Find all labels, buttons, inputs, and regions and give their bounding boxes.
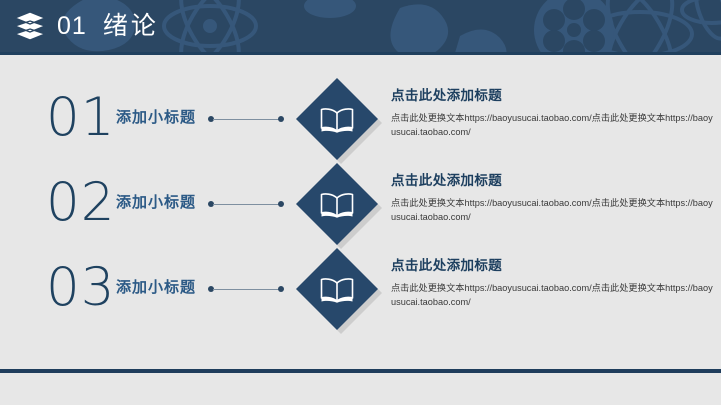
- row-title: 点击此处添加标题: [391, 258, 713, 274]
- row-title: 点击此处添加标题: [391, 173, 713, 189]
- row-subtitle: 添加小标题: [116, 195, 196, 210]
- connector-dot-right: [278, 286, 284, 292]
- open-book-icon: [319, 107, 355, 133]
- row-number: 01: [46, 91, 115, 144]
- row-body: 点击此处更换文本https://baoyusucai.taobao.com/点击…: [391, 196, 713, 225]
- row-text-block: 点击此处添加标题 点击此处更换文本https://baoyusucai.taob…: [391, 173, 713, 225]
- atom-nucleus-icon: [203, 19, 217, 33]
- row-subtitle: 添加小标题: [116, 110, 196, 125]
- header-content: 01 绪论: [0, 0, 159, 52]
- row-body: 点击此处更换文本https://baoyusucai.taobao.com/点击…: [391, 281, 713, 310]
- connector-line: [208, 285, 284, 293]
- connector-line: [208, 115, 284, 123]
- diamond-badge[interactable]: [295, 168, 387, 254]
- row-number: 02: [46, 176, 115, 229]
- connector-line: [208, 200, 284, 208]
- connector-bar: [213, 204, 279, 206]
- connector-bar: [213, 289, 279, 291]
- row-text-block: 点击此处添加标题 点击此处更换文本https://baoyusucai.taob…: [391, 88, 713, 140]
- blob-shape: [304, 0, 356, 18]
- slide-header: 01 绪论: [0, 0, 721, 52]
- row-title: 点击此处添加标题: [391, 88, 713, 104]
- open-book-icon: [319, 277, 355, 303]
- header-underline: [0, 52, 721, 55]
- header-section-number: 01: [57, 14, 87, 39]
- content-row: 03 添加小标题 点击此处添加标题 点击此处更换文本https://baoyus…: [0, 253, 721, 339]
- content-row: 01 添加小标题 点击此处添加标题 点击此处更换文本https://baoyus…: [0, 83, 721, 169]
- flask-icon: [390, 4, 448, 52]
- diamond-badge[interactable]: [295, 83, 387, 169]
- diamond-badge[interactable]: [295, 253, 387, 339]
- bottom-rule: [0, 369, 721, 373]
- header-section-title: 绪论: [103, 14, 159, 39]
- connector-dot-right: [278, 116, 284, 122]
- content-row: 02 添加小标题 点击此处添加标题 点击此处更换文本https://baoyus…: [0, 168, 721, 254]
- row-body: 点击此处更换文本https://baoyusucai.taobao.com/点击…: [391, 111, 713, 140]
- connector-dot-right: [278, 201, 284, 207]
- open-book-icon: [319, 192, 355, 218]
- atom-icon: [682, 0, 721, 43]
- blob-shape: [450, 29, 507, 52]
- slide-canvas: 01 绪论 01 添加小标题 点击此处添加标题: [0, 0, 721, 405]
- row-text-block: 点击此处添加标题 点击此处更换文本https://baoyusucai.taob…: [391, 258, 713, 310]
- row-number: 03: [46, 261, 115, 314]
- books-stack-icon: [14, 11, 46, 41]
- row-subtitle: 添加小标题: [116, 280, 196, 295]
- connector-bar: [213, 119, 279, 121]
